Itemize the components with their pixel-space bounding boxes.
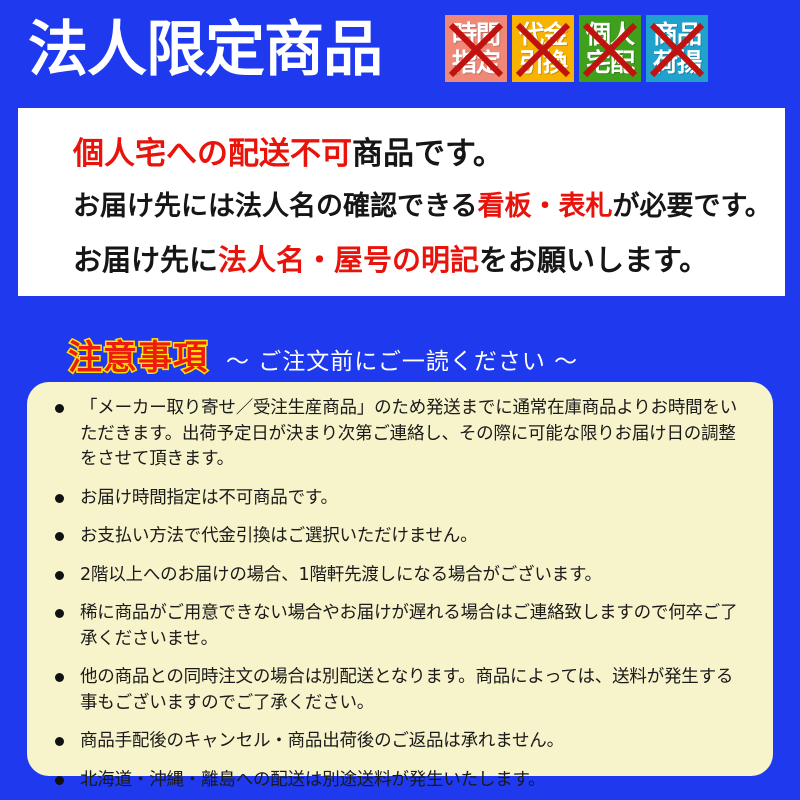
- list-item: お支払い方法で代金引換はご選択いただけません。: [53, 524, 747, 550]
- badge-line-2: 指定: [452, 49, 500, 77]
- notice-list: 「メーカー取り寄せ／受注生産商品」のため発送までに通常在庫商品よりお時間をいただ…: [53, 396, 747, 793]
- badge-line-1: 個人: [586, 21, 634, 49]
- list-item-text: 商品手配後のキャンセル・商品出荷後のご返品は承れません。: [80, 731, 564, 751]
- bullet-icon: [55, 609, 64, 618]
- list-item: 稀に商品がご用意できない場合やお届けが遅れる場合はご連絡致しますので何卒ご了承く…: [53, 601, 747, 652]
- delivery-requirements-panel: 個人宅への配送不可商品です。 お届け先には法人名の確認できる看板・表札が必要です…: [18, 108, 785, 296]
- list-item-text: 稀に商品がご用意できない場合やお届けが遅れる場合はご連絡致しますので何卒ご了承く…: [80, 603, 737, 649]
- bullet-icon: [55, 532, 64, 541]
- bullet-icon: [55, 737, 64, 746]
- list-item: お届け時間指定は不可商品です。: [53, 486, 747, 512]
- bullet-icon: [55, 776, 64, 785]
- delivery-requirement-line-2: お届け先には法人名の確認できる看板・表札が必要です。: [73, 184, 772, 223]
- line-2-black-prefix: お届け先には法人名の確認できる: [73, 191, 477, 222]
- list-item: 「メーカー取り寄せ／受注生産商品」のため発送までに通常在庫商品よりお時間をいただ…: [53, 396, 747, 473]
- badge-line-2: 引換: [519, 49, 567, 77]
- list-item: 2階以上へのお届けの場合、1階軒先渡しになる場合がございます。: [53, 563, 747, 589]
- list-item: 他の商品との同時注文の場合は別配送となります。商品によっては、送料が発生する事も…: [53, 665, 747, 716]
- bullet-icon: [55, 571, 64, 580]
- line-1-black-text: 商品です。: [352, 136, 504, 172]
- list-item-text: お支払い方法で代金引換はご選択いただけません。: [80, 526, 477, 546]
- badge-time-specification: 時間 指定: [445, 15, 507, 82]
- delivery-requirement-line-3: お届け先に法人名・屋号の明記をお願いします。: [73, 237, 708, 279]
- restriction-badge-row: 時間 指定 代金 引換 個人 宅配: [445, 15, 708, 82]
- page-title: 法人限定商品: [28, 16, 382, 84]
- list-item-text: 北海道・沖縄・離島への配送は別途送料が発生いたします。: [80, 770, 545, 790]
- delivery-requirement-line-1: 個人宅への配送不可商品です。: [73, 128, 504, 173]
- notice-heading-subtitle: ～ ご注文前にご一読ください ～: [226, 342, 578, 376]
- badge-line-1: 時間: [452, 21, 500, 49]
- bullet-icon: [55, 673, 64, 682]
- badge-individual-home-delivery: 個人 宅配: [579, 15, 641, 82]
- line-1-red-text: 個人宅への配送不可: [73, 136, 352, 172]
- bullet-icon: [55, 494, 64, 503]
- list-item: 北海道・沖縄・離島への配送は別途送料が発生いたします。: [53, 768, 747, 794]
- badge-line-1: 代金: [519, 21, 567, 49]
- line-2-black-suffix: が必要です。: [612, 191, 771, 222]
- line-3-black-suffix: をお願いします。: [479, 243, 708, 277]
- badge-line-2: 宅配: [586, 49, 634, 77]
- list-item-text: 2階以上へのお届けの場合、1階軒先渡しになる場合がございます。: [80, 565, 602, 585]
- notice-list-panel: 「メーカー取り寄せ／受注生産商品」のため発送までに通常在庫商品よりお時間をいただ…: [27, 382, 773, 776]
- list-item-text: 他の商品との同時注文の場合は別配送となります。商品によっては、送料が発生する事も…: [80, 667, 733, 713]
- badge-line-2: 荷揚: [653, 49, 701, 77]
- list-item-text: 「メーカー取り寄せ／受注生産商品」のため発送までに通常在庫商品よりお時間をいただ…: [80, 398, 737, 469]
- line-3-black-prefix: お届け先に: [73, 243, 218, 277]
- badge-cash-on-delivery: 代金 引換: [512, 15, 574, 82]
- badge-line-1: 商品: [653, 21, 701, 49]
- notice-section-heading: 注意事項 ～ ご注文前にご一読ください ～: [68, 330, 578, 379]
- line-3-red-text: 法人名・屋号の明記: [218, 243, 479, 277]
- bullet-icon: [55, 404, 64, 413]
- list-item: 商品手配後のキャンセル・商品出荷後のご返品は承れません。: [53, 729, 747, 755]
- list-item-text: お届け時間指定は不可商品です。: [80, 488, 338, 508]
- notice-heading-title: 注意事項: [68, 330, 208, 379]
- legal-entity-only-notice-banner: 法人限定商品 時間 指定 代金 引換 個人 宅配: [0, 0, 800, 800]
- badge-product-unloading: 商品 荷揚: [646, 15, 708, 82]
- line-2-red-text: 看板・表札: [477, 191, 612, 222]
- banner-header: 法人限定商品 時間 指定 代金 引換 個人 宅配: [0, 0, 800, 104]
